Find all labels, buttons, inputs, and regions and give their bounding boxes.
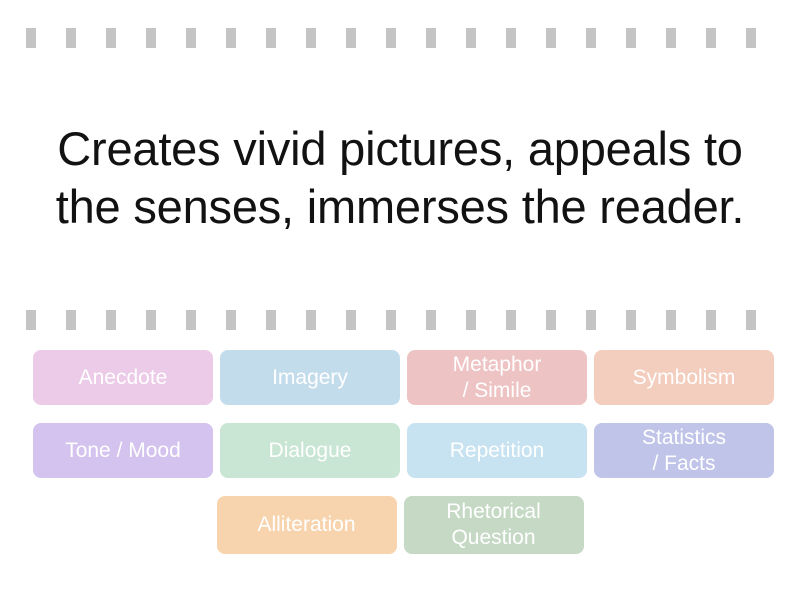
- prompt-area: Creates vivid pictures, appeals to the s…: [0, 56, 800, 300]
- dash-tick-icon: [26, 28, 36, 48]
- dash-tick-icon: [546, 310, 556, 330]
- dash-tick-icon: [746, 28, 756, 48]
- answer-tile-grid: AnecdoteImageryMetaphor / SimileSymbolis…: [0, 350, 800, 566]
- dash-tick-icon: [426, 28, 436, 48]
- dash-tick-icon: [346, 28, 356, 48]
- dash-tick-icon: [146, 28, 156, 48]
- answer-tile[interactable]: Anecdote: [33, 350, 213, 405]
- answer-row: Tone / MoodDialogueRepetitionStatistics …: [0, 423, 800, 478]
- answer-row: AnecdoteImageryMetaphor / SimileSymbolis…: [0, 350, 800, 405]
- dash-tick-icon: [146, 310, 156, 330]
- dash-tick-icon: [626, 310, 636, 330]
- dash-tick-icon: [66, 28, 76, 48]
- dash-tick-icon: [506, 310, 516, 330]
- page-title: Creates vivid pictures, appeals to the s…: [50, 120, 750, 236]
- answer-tile[interactable]: Alliteration: [217, 496, 397, 554]
- dash-tick-icon: [746, 310, 756, 330]
- answer-tile[interactable]: Rhetorical Question: [404, 496, 584, 554]
- dash-tick-icon: [506, 28, 516, 48]
- dash-tick-icon: [26, 310, 36, 330]
- dash-tick-icon: [306, 28, 316, 48]
- answer-tile[interactable]: Dialogue: [220, 423, 400, 478]
- answer-tile[interactable]: Repetition: [407, 423, 587, 478]
- dash-tick-icon: [186, 310, 196, 330]
- answer-tile[interactable]: Symbolism: [594, 350, 774, 405]
- dash-tick-icon: [186, 28, 196, 48]
- dash-tick-icon: [586, 28, 596, 48]
- dash-tick-icon: [706, 310, 716, 330]
- dash-tick-icon: [586, 310, 596, 330]
- dash-tick-icon: [306, 310, 316, 330]
- dash-tick-icon: [706, 28, 716, 48]
- dash-tick-icon: [106, 28, 116, 48]
- answer-tile[interactable]: Metaphor / Simile: [407, 350, 587, 405]
- answer-tile[interactable]: Tone / Mood: [33, 423, 213, 478]
- dash-tick-icon: [546, 28, 556, 48]
- dash-tick-icon: [466, 28, 476, 48]
- answer-tile[interactable]: Statistics / Facts: [594, 423, 774, 478]
- dash-tick-icon: [66, 310, 76, 330]
- dash-tick-icon: [386, 28, 396, 48]
- dash-tick-icon: [426, 310, 436, 330]
- answer-row: AlliterationRhetorical Question: [0, 496, 800, 554]
- dash-tick-icon: [106, 310, 116, 330]
- dash-tick-icon: [386, 310, 396, 330]
- separator-bottom: [0, 310, 800, 330]
- dash-tick-icon: [266, 28, 276, 48]
- dash-tick-icon: [346, 310, 356, 330]
- dash-tick-icon: [226, 28, 236, 48]
- answer-tile[interactable]: Imagery: [220, 350, 400, 405]
- dash-tick-icon: [226, 310, 236, 330]
- dash-tick-icon: [626, 28, 636, 48]
- separator-top: [0, 28, 800, 48]
- dash-tick-icon: [266, 310, 276, 330]
- dash-tick-icon: [666, 28, 676, 48]
- dash-tick-icon: [666, 310, 676, 330]
- dash-tick-icon: [466, 310, 476, 330]
